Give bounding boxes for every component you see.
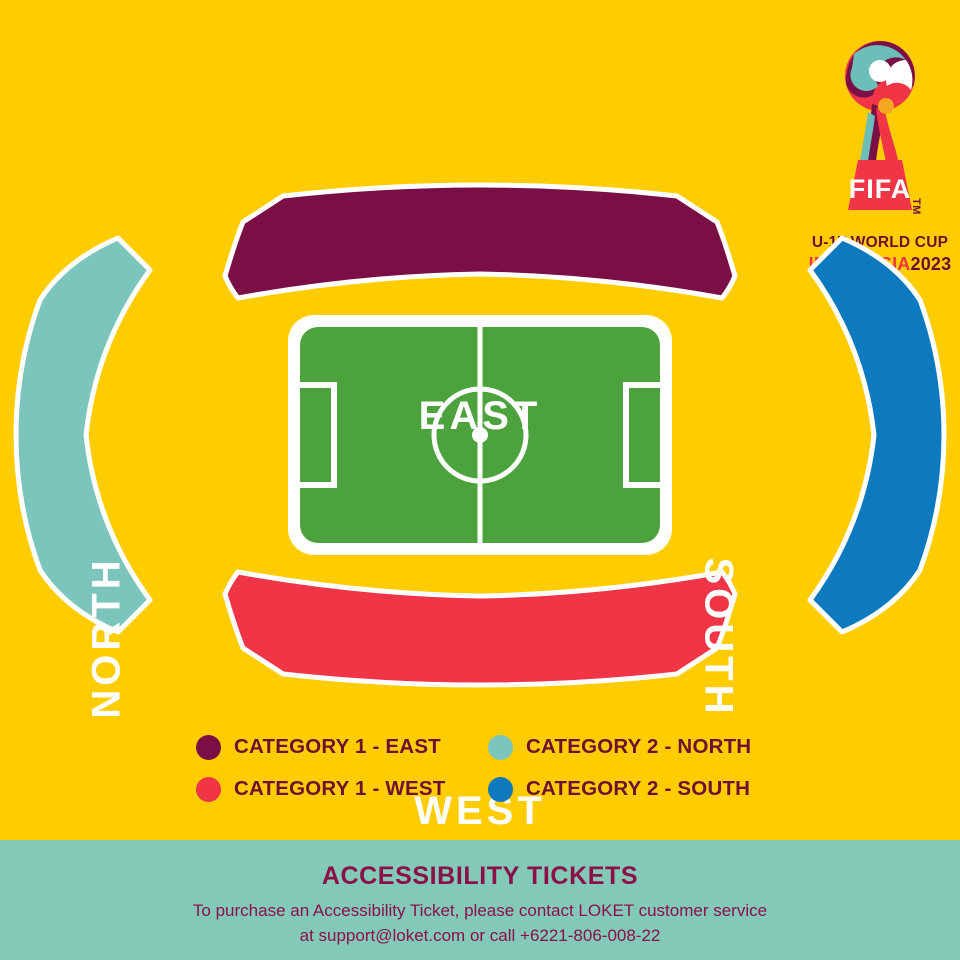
stadium-seatmap-page: FIFA TM U-17 WORLD CUP INDONESIA2023 <box>0 0 960 960</box>
legend-item-category-2-north[interactable]: CATEGORY 2 - NORTH <box>488 726 788 768</box>
stand-label-north: NORTH <box>85 538 130 738</box>
legend-label: CATEGORY 2 - NORTH <box>526 735 751 759</box>
legend-label: CATEGORY 1 - WEST <box>234 777 445 801</box>
legend-swatch-icon <box>488 735 513 760</box>
accessibility-title: ACCESSIBILITY TICKETS <box>0 862 960 891</box>
accessibility-line-2: at support@loket.com or call +6221-806-0… <box>300 926 661 945</box>
legend-swatch-icon <box>488 777 513 802</box>
legend: CATEGORY 1 - EAST CATEGORY 2 - NORTH CAT… <box>0 726 960 826</box>
legend-label: CATEGORY 1 - EAST <box>234 735 441 759</box>
accessibility-line-1: To purchase an Accessibility Ticket, ple… <box>193 901 767 920</box>
legend-swatch-icon <box>196 735 221 760</box>
legend-item-category-1-east[interactable]: CATEGORY 1 - EAST <box>196 726 488 768</box>
legend-label: CATEGORY 2 - SOUTH <box>526 777 750 801</box>
stand-east[interactable] <box>225 185 735 298</box>
accessibility-footer: ACCESSIBILITY TICKETS To purchase an Acc… <box>0 840 960 960</box>
legend-item-category-2-south[interactable]: CATEGORY 2 - SOUTH <box>488 768 788 810</box>
legend-item-category-1-west[interactable]: CATEGORY 1 - WEST <box>196 768 488 810</box>
stadium-diagram: EAST NORTH SOUTH WEST <box>0 180 960 690</box>
stand-label-south: SOUTH <box>696 538 741 738</box>
stand-west[interactable] <box>225 572 735 685</box>
legend-swatch-icon <box>196 777 221 802</box>
stand-label-east: EAST <box>0 394 960 439</box>
accessibility-text: To purchase an Accessibility Ticket, ple… <box>0 898 960 948</box>
